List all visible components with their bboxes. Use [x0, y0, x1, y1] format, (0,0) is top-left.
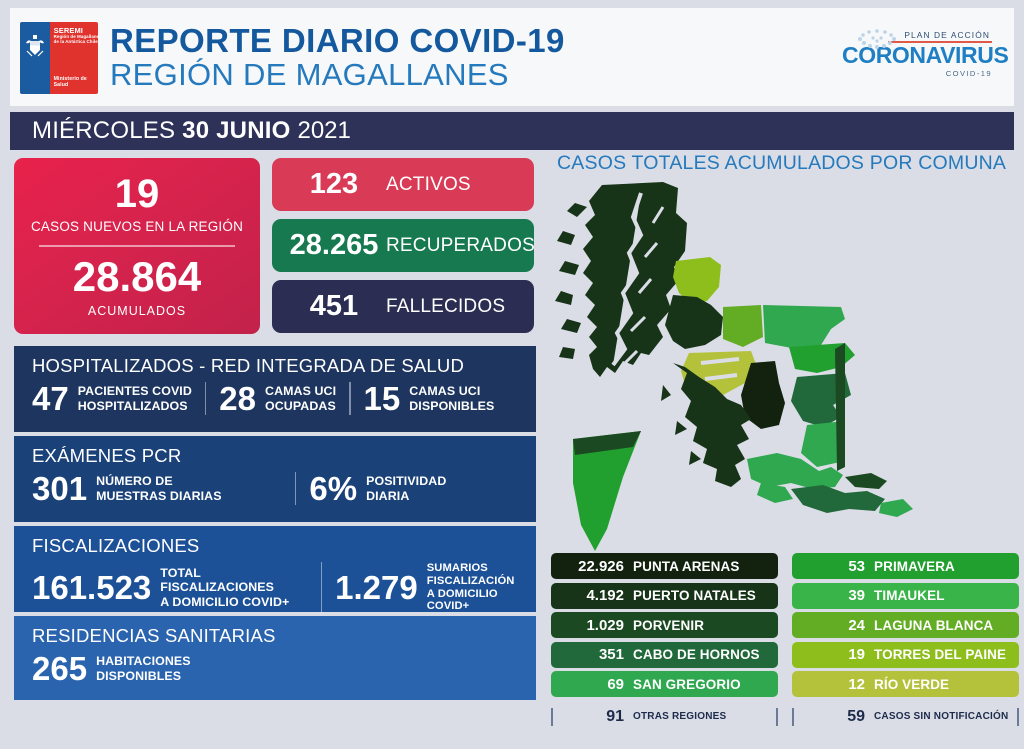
- divider: [205, 382, 206, 415]
- commune-name: SAN GREGORIO: [633, 677, 741, 692]
- map-region-san-gregorio: [763, 305, 845, 349]
- commune-name: PUERTO NATALES: [633, 588, 756, 603]
- total-fiscalizaciones-number: 161.523: [32, 571, 151, 604]
- camas-ocupadas-label-l2: OCUPADAS: [265, 399, 336, 413]
- stat-camas-uci-disponibles: 15 CAMAS UCI DISPONIBLES: [364, 382, 495, 415]
- muestras-number: 301: [32, 472, 87, 505]
- residencias-panel: RESIDENCIAS SANITARIAS 265 HABITACIONES …: [14, 616, 536, 700]
- otras-regiones-value: 91: [551, 708, 633, 726]
- table-row: 351 CABO DE HORNOS: [551, 642, 778, 668]
- magallanes-map-svg: [545, 177, 1015, 557]
- commune-name: PUNTA ARENAS: [633, 559, 739, 574]
- commune-value: 19: [792, 646, 874, 663]
- table-row: 22.926 PUNTA ARENAS: [551, 553, 778, 579]
- commune-name: TORRES DEL PAINE: [874, 647, 1006, 662]
- commune-value: 24: [792, 617, 874, 634]
- header: SEREMI Región de Magallanes y de la Antá…: [10, 8, 1014, 106]
- divider: [321, 562, 322, 613]
- fallecidos-number: 451: [282, 290, 386, 323]
- camas-ocupadas-label-l1: CAMAS UCI: [265, 384, 336, 398]
- stat-pacientes-covid: 47 PACIENTES COVID HOSPITALIZADOS: [32, 382, 192, 415]
- hospitalized-panel: HOSPITALIZADOS - RED INTEGRADA DE SALUD …: [14, 346, 536, 432]
- commune-columns: 22.926 PUNTA ARENAS 4.192 PUERTO NATALES…: [551, 553, 1019, 701]
- recuperados-label: RECUPERADOS: [386, 235, 535, 257]
- logo-region-text: Región de Magallanes y de la Antártica C…: [54, 35, 98, 44]
- otras-regiones-label: OTRAS REGIONES: [633, 711, 726, 722]
- pacientes-covid-label-l1: PACIENTES COVID: [78, 384, 192, 398]
- sumarios-label: SUMARIOS FISCALIZACIÓN A DOMICILIO COVID…: [427, 562, 536, 613]
- hospitalized-stats-row: 47 PACIENTES COVID HOSPITALIZADOS 28 CAM…: [32, 382, 536, 415]
- accumulated-label: ACUMULADOS: [88, 304, 186, 318]
- table-row: 39 TIMAUKEL: [792, 583, 1019, 609]
- stat-total-fiscalizaciones: 161.523 TOTAL FISCALIZACIONES A DOMICILI…: [32, 566, 308, 608]
- camas-disponibles-label-l2: DISPONIBLES: [409, 399, 494, 413]
- divider: [349, 382, 350, 415]
- pcr-panel: EXÁMENES PCR 301 NÚMERO DE MUESTRAS DIAR…: [14, 436, 536, 522]
- commune-cases-table: 22.926 PUNTA ARENAS 4.192 PUERTO NATALES…: [551, 553, 1019, 729]
- footer-casos-sin-notificacion: 59 CASOS SIN NOTIFICACIÓN: [792, 705, 1019, 729]
- pacientes-covid-number: 47: [32, 382, 69, 415]
- stat-muestras-diarias: 301 NÚMERO DE MUESTRAS DIARIAS: [32, 472, 282, 505]
- virus-dots-arc-icon: [848, 28, 906, 50]
- sumarios-label-l3: A DOMICILIO COVID+: [427, 588, 498, 613]
- commune-value: 4.192: [551, 587, 633, 604]
- commune-name: CABO DE HORNOS: [633, 647, 760, 662]
- residencias-title: RESIDENCIAS SANITARIAS: [32, 625, 536, 647]
- total-fiscalizaciones-label-l1: TOTAL FISCALIZACIONES: [160, 566, 274, 594]
- camas-disponibles-label-l1: CAMAS UCI: [409, 384, 480, 398]
- new-cases-number: 19: [115, 174, 160, 214]
- positividad-number: 6%: [309, 472, 357, 505]
- hospitalized-title: HOSPITALIZADOS - RED INTEGRADA DE SALUD: [32, 355, 536, 377]
- residencias-stats-row: 265 HABITACIONES DISPONIBLES: [32, 652, 536, 685]
- commune-value: 53: [792, 558, 874, 575]
- commune-column-right: 53 PRIMAVERA 39 TIMAUKEL 24 LAGUNA BLANC…: [792, 553, 1019, 701]
- muestras-label: NÚMERO DE MUESTRAS DIARIAS: [96, 474, 222, 502]
- total-fiscalizaciones-label: TOTAL FISCALIZACIONES A DOMICILIO COVID+: [160, 566, 308, 608]
- seremi-logo: SEREMI Región de Magallanes y de la Antá…: [20, 22, 98, 94]
- commune-name: LAGUNA BLANCA: [874, 618, 993, 633]
- status-pill-recuperados: 28.265 RECUPERADOS: [272, 219, 534, 272]
- commune-value: 39: [792, 587, 874, 604]
- commune-name: PORVENIR: [633, 618, 704, 633]
- map-region-natales-lower: [665, 295, 723, 349]
- infographic-page: SEREMI Región de Magallanes y de la Antá…: [0, 0, 1024, 749]
- stat-camas-uci-ocupadas: 28 CAMAS UCI OCUPADAS: [219, 382, 336, 415]
- date-day-month: 30 JUNIO: [182, 117, 290, 145]
- pacientes-covid-label-l2: HOSPITALIZADOS: [78, 399, 188, 413]
- muestras-label-l2: MUESTRAS DIARIAS: [96, 489, 222, 503]
- coronavirus-covid-text: COVID-19: [842, 69, 992, 78]
- commune-footer-row: 91 OTRAS REGIONES 59 CASOS SIN NOTIFICAC…: [551, 705, 1019, 729]
- habitaciones-label-l1: HABITACIONES: [96, 654, 191, 668]
- new-cases-label: CASOS NUEVOS EN LA REGIÓN: [31, 219, 243, 234]
- commune-value: 351: [551, 646, 633, 663]
- sin-notificacion-label: CASOS SIN NOTIFICACIÓN: [874, 711, 1008, 722]
- map-region-puerto-natales: [555, 182, 687, 377]
- activos-number: 123: [282, 168, 386, 201]
- report-title-line1: REPORTE DIARIO COVID-19: [110, 24, 565, 58]
- sumarios-label-l2: FISCALIZACIÓN: [427, 575, 515, 587]
- map-region-laguna-blanca: [723, 305, 763, 347]
- map-title: CASOS TOTALES ACUMULADOS POR COMUNA: [557, 152, 1015, 175]
- commune-value: 1.029: [551, 617, 633, 634]
- commune-value: 22.926: [551, 558, 633, 575]
- date-weekday: MIÉRCOLES: [32, 117, 175, 145]
- habitaciones-number: 265: [32, 652, 87, 685]
- fiscalizaciones-title: FISCALIZACIONES: [32, 535, 536, 557]
- status-pill-group: 123 ACTIVOS 28.265 RECUPERADOS 451 FALLE…: [272, 158, 534, 341]
- table-row: 24 LAGUNA BLANCA: [792, 612, 1019, 638]
- table-row: 53 PRIMAVERA: [792, 553, 1019, 579]
- coronavirus-plan-logo: PLAN DE ACCIÓN CORONAVIRUS COVID-19: [842, 30, 992, 78]
- sin-notificacion-value: 59: [792, 708, 874, 726]
- new-cases-card: 19 CASOS NUEVOS EN LA REGIÓN 28.864 ACUM…: [14, 158, 260, 334]
- right-column: CASOS TOTALES ACUMULADOS POR COMUNA: [545, 152, 1015, 557]
- table-row: 19 TORRES DEL PAINE: [792, 642, 1019, 668]
- table-row: 4.192 PUERTO NATALES: [551, 583, 778, 609]
- accumulated-number: 28.864: [73, 256, 201, 298]
- habitaciones-label: HABITACIONES DISPONIBLES: [96, 654, 191, 682]
- commune-value: 69: [551, 676, 633, 693]
- positividad-label: POSITIVIDAD DIARIA: [366, 474, 446, 502]
- positividad-label-l1: POSITIVIDAD: [366, 474, 446, 488]
- camas-disponibles-label: CAMAS UCI DISPONIBLES: [409, 384, 494, 412]
- commune-column-left: 22.926 PUNTA ARENAS 4.192 PUERTO NATALES…: [551, 553, 778, 701]
- pacientes-covid-label: PACIENTES COVID HOSPITALIZADOS: [78, 384, 192, 412]
- fiscalizaciones-stats-row: 161.523 TOTAL FISCALIZACIONES A DOMICILI…: [32, 562, 536, 613]
- commune-name: RÍO VERDE: [874, 677, 949, 692]
- status-pill-activos: 123 ACTIVOS: [272, 158, 534, 211]
- table-row: 1.029 PORVENIR: [551, 612, 778, 638]
- camas-disponibles-number: 15: [364, 382, 401, 415]
- activos-label: ACTIVOS: [386, 174, 471, 196]
- divider: [295, 472, 296, 505]
- map-region-primavera: [789, 343, 855, 373]
- stat-positividad-diaria: 6% POSITIVIDAD DIARIA: [309, 472, 446, 505]
- commune-name: TIMAUKEL: [874, 588, 945, 603]
- commune-name: PRIMAVERA: [874, 559, 955, 574]
- total-fiscalizaciones-label-l2: A DOMICILIO COVID+: [160, 595, 289, 609]
- logo-red-panel: SEREMI Región de Magallanes y de la Antá…: [50, 22, 98, 94]
- logo-ministry-text: Ministerio de Salud: [54, 77, 98, 88]
- table-row: 12 RÍO VERDE: [792, 671, 1019, 697]
- recuperados-number: 28.265: [282, 229, 386, 262]
- date-bar: MIÉRCOLES 30 JUNIO 2021: [10, 112, 1014, 150]
- commune-value: 12: [792, 676, 874, 693]
- table-row: 69 SAN GREGORIO: [551, 671, 778, 697]
- pcr-title: EXÁMENES PCR: [32, 445, 536, 467]
- positividad-label-l2: DIARIA: [366, 489, 409, 503]
- logo-blue-panel: [20, 22, 50, 94]
- chile-coat-of-arms-icon: [24, 34, 46, 60]
- magallanes-map: [545, 177, 1015, 557]
- status-pill-fallecidos: 451 FALLECIDOS: [272, 280, 534, 333]
- fiscalizaciones-panel: FISCALIZACIONES 161.523 TOTAL FISCALIZAC…: [14, 526, 536, 612]
- new-cases-divider: [39, 245, 235, 246]
- report-title-line2: REGIÓN DE MAGALLANES: [110, 59, 565, 92]
- report-title-block: REPORTE DIARIO COVID-19 REGIÓN DE MAGALL…: [110, 24, 565, 91]
- habitaciones-label-l2: DISPONIBLES: [96, 669, 181, 683]
- camas-ocupadas-number: 28: [219, 382, 256, 415]
- muestras-label-l1: NÚMERO DE: [96, 474, 173, 488]
- date-year: 2021: [297, 117, 350, 145]
- stat-habitaciones: 265 HABITACIONES DISPONIBLES: [32, 652, 191, 685]
- camas-ocupadas-label: CAMAS UCI OCUPADAS: [265, 384, 336, 412]
- fallecidos-label: FALLECIDOS: [386, 296, 505, 318]
- sumarios-label-l1: SUMARIOS: [427, 562, 488, 574]
- stat-sumarios: 1.279 SUMARIOS FISCALIZACIÓN A DOMICILIO…: [335, 562, 536, 613]
- pcr-stats-row: 301 NÚMERO DE MUESTRAS DIARIAS 6% POSITI…: [32, 472, 536, 505]
- sumarios-number: 1.279: [335, 571, 418, 604]
- footer-otras-regiones: 91 OTRAS REGIONES: [551, 705, 778, 729]
